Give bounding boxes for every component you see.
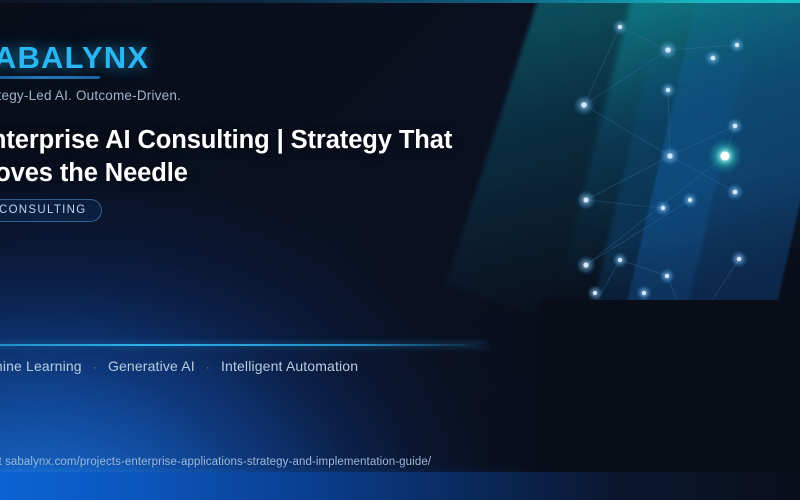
source-url[interactable]: at sabalynx.com/projects-enterprise-appl… bbox=[0, 456, 431, 468]
network-node bbox=[737, 257, 742, 262]
network-node bbox=[711, 56, 716, 61]
network-node bbox=[733, 190, 738, 195]
network-node bbox=[667, 153, 672, 158]
tag-separator: · bbox=[86, 360, 104, 374]
network-node bbox=[593, 291, 597, 295]
network-node bbox=[733, 124, 738, 129]
brand-logo[interactable]: SABALYNX bbox=[0, 40, 149, 76]
status-badge: AI CONSULTING bbox=[0, 199, 102, 222]
network-node bbox=[665, 274, 669, 278]
brand-tagline: Strategy-Led AI. Outcome-Driven. bbox=[0, 88, 181, 103]
network-node bbox=[665, 47, 670, 52]
network-edge bbox=[586, 200, 690, 265]
brand-logo-underline bbox=[0, 76, 100, 79]
tag-generative-ai: Generative AI bbox=[108, 358, 195, 374]
network-edge bbox=[668, 45, 737, 50]
network-node bbox=[583, 262, 588, 267]
network-node bbox=[618, 258, 622, 262]
network-edge bbox=[584, 105, 670, 156]
tag-machine-learning: Machine Learning bbox=[0, 358, 82, 374]
network-node bbox=[735, 43, 739, 47]
page-title: Enterprise AI Consulting | Strategy That… bbox=[0, 124, 494, 190]
network-node bbox=[688, 198, 692, 202]
network-node bbox=[618, 25, 622, 29]
network-edge bbox=[586, 200, 663, 208]
capability-tags: Machine Learning · Generative AI · Intel… bbox=[0, 358, 358, 374]
network-node bbox=[583, 197, 588, 202]
tag-separator: · bbox=[199, 360, 217, 374]
hero-banner: SABALYNX Strategy-Led AI. Outcome-Driven… bbox=[0, 0, 800, 500]
network-node bbox=[581, 102, 587, 108]
tag-intelligent-automation: Intelligent Automation bbox=[221, 358, 358, 374]
network-node bbox=[661, 206, 665, 210]
section-divider bbox=[0, 344, 487, 346]
network-node bbox=[666, 88, 670, 92]
bottom-accent-band bbox=[0, 472, 800, 500]
network-node bbox=[721, 152, 730, 161]
hero-content: SABALYNX Strategy-Led AI. Outcome-Driven… bbox=[0, 0, 520, 500]
network-edge bbox=[586, 156, 670, 200]
network-node bbox=[642, 291, 646, 295]
